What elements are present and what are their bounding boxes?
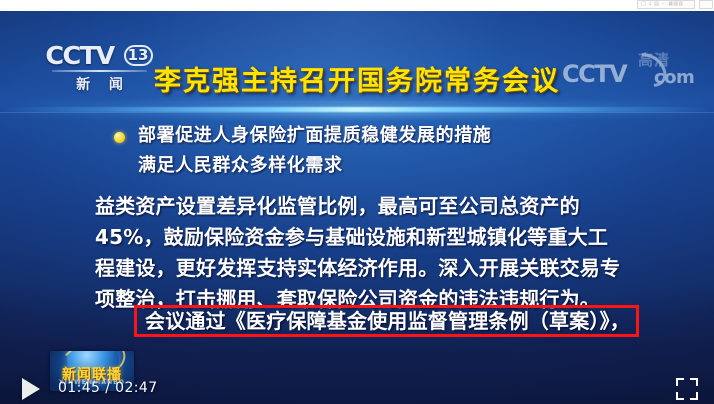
news-headline: 李克强主持召开国务院常务会议 [0,59,714,98]
body-line-2: 45%，鼓励保险资金参与基础设施和新型城镇化等重大工 [95,222,625,253]
news-body-paragraph: 益类资产设置差异化监管比例，最高可至公司总资产的 45%，鼓励保险资金参与基础设… [95,191,625,315]
fullscreen-corner-bl [676,392,684,400]
fullscreen-corner-tl [676,378,684,386]
bullet-text-1: 部署促进人身保险扩面提质稳健发展的措施 [138,123,634,149]
divider-hairline [0,112,714,113]
body-line-3: 程建设，更好发挥支持实体经济作用。深入开展关联交易专 [95,253,625,284]
play-button[interactable] [22,378,40,400]
body-line-1: 益类资产设置差异化监管比例，最高可至公司总资产的 [95,191,625,222]
browser-toolbar-strip: □ ↓ ▤ ⋯ ▦▨▥ [0,0,714,11]
screenshot-root: □ ↓ ▤ ⋯ ▦▨▥ CCTV 13 新 闻 高清 CCTV com 李克强主… [0,0,714,404]
bullet-item-1: 部署促进人身保险扩面提质稳健发展的措施 [114,123,634,149]
fullscreen-icon[interactable] [676,378,698,400]
video-player[interactable]: CCTV 13 新 闻 高清 CCTV com 李克强主持召开国务院常务会议 部… [0,11,714,404]
fullscreen-corner-tr [690,378,698,386]
toolbar-ghost-button[interactable] [699,0,713,9]
bullet-dot-icon [114,132,125,143]
bullet-list: 部署促进人身保险扩面提质稳健发展的措施 满足人民群众多样化需求 [114,123,634,179]
toolbar-ghost-label: □ ↓ ▤ ⋯ ▦▨▥ [641,1,693,8]
bullet-text-2: 满足人民群众多样化需求 [138,153,634,179]
bullet-item-2: 满足人民群众多样化需求 [114,153,634,179]
fullscreen-corner-br [690,392,698,400]
highlighted-text: 会议通过《医疗保障基金使用监督管理条例（草案）》， [140,308,635,334]
time-display: 01:45 / 02:47 [58,380,158,396]
